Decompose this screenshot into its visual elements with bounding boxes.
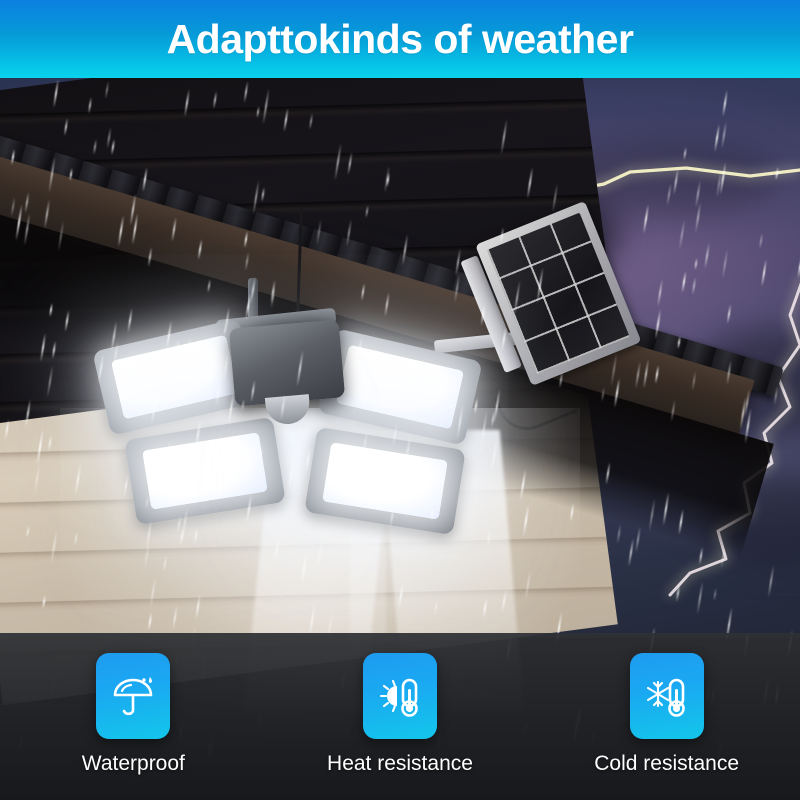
umbrella-rain-icon (111, 673, 155, 719)
lamp-housing (229, 319, 345, 406)
feature-label: Waterproof (82, 752, 185, 775)
feature-icon-badge (96, 653, 170, 739)
snowflake-thermometer-icon (644, 673, 690, 719)
led-deformable-light (120, 278, 510, 538)
feature-label: Cold resistance (594, 752, 739, 775)
feature-label: Heat resistance (327, 752, 473, 775)
header-banner: Adapttokinds of weather (0, 0, 800, 78)
product-feature-image: Adapttokinds of weather (0, 0, 800, 800)
lamp-stem (248, 278, 258, 320)
feature-cold-resistance: Cold resistance (552, 633, 782, 775)
sun-thermometer-icon (377, 673, 423, 719)
feature-strip: Waterproof (0, 633, 800, 800)
led-panel (124, 417, 286, 525)
feature-icon-badge (363, 653, 437, 739)
led-panel (304, 427, 466, 535)
feature-heat-resistance: Heat resistance (285, 633, 515, 775)
page-title: Adapttokinds of weather (167, 19, 634, 60)
feature-waterproof: Waterproof (18, 633, 248, 775)
feature-icon-badge (630, 653, 704, 739)
